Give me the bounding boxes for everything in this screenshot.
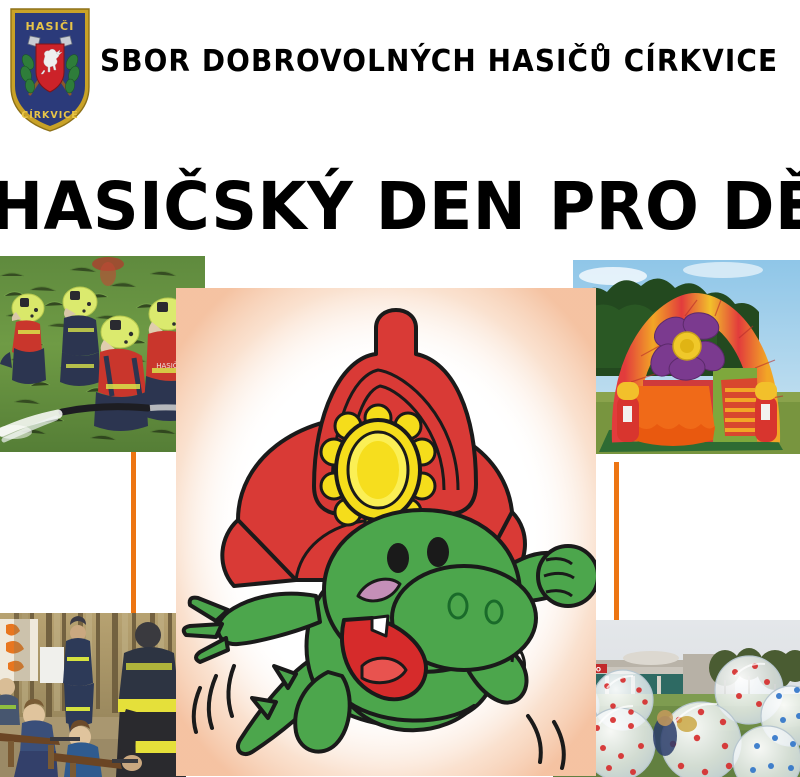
photo-bouncy-castle — [573, 260, 800, 454]
organization-title: SBOR DOBROVOLNÝCH HASIČŮ CÍRKVICE — [100, 44, 788, 79]
firefighter-dragon-mascot — [176, 288, 596, 776]
photo-children-firefighters: HASIČI — [0, 256, 205, 452]
sdh-cirkvice-badge: HASIČI — [6, 4, 94, 134]
rule-right-vertical — [614, 462, 619, 622]
badge-bottom-text: CÍRKVICE — [21, 109, 79, 121]
rule-left-vertical — [131, 452, 136, 615]
badge-top-text: HASIČI — [25, 20, 74, 33]
poster-canvas: HASIČI — [0, 0, 800, 777]
page-title: HASIČSKÝ DEN PRO DĚTI — [0, 168, 800, 245]
photo-air-rifle-shooting — [0, 613, 186, 777]
